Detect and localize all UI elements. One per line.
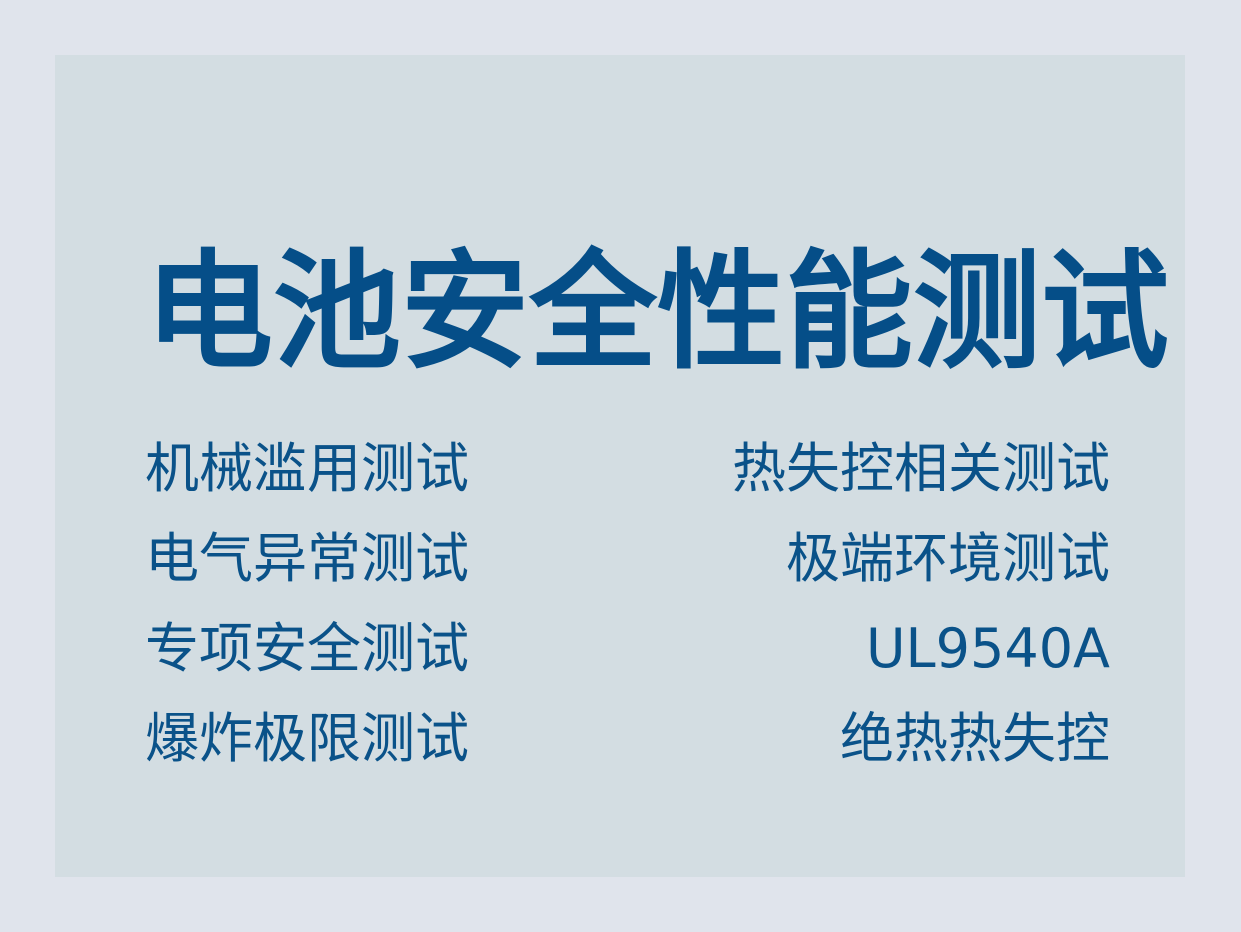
page-title: 电池安全性能测试 [145,238,1110,388]
category-item-thermal-runaway: 热失控相关测试 [732,424,1110,514]
test-category-list: 机械滥用测试 热失控相关测试 电气异常测试 极端环境测试 专项安全测试 UL95… [145,424,1110,774]
category-row: 机械滥用测试 热失控相关测试 [145,424,1110,514]
category-item-ul9540a: UL9540A [866,604,1110,694]
category-item-adiabatic-thermal-runaway: 绝热热失控 [840,694,1110,784]
category-item-mechanical-abuse: 机械滥用测试 [145,424,469,514]
slide-root: 电池安全性能测试 机械滥用测试 热失控相关测试 电气异常测试 极端环境测试 专项… [0,0,1241,932]
category-item-electrical-abnormal: 电气异常测试 [145,514,469,604]
category-item-extreme-environment: 极端环境测试 [786,514,1110,604]
category-row: 专项安全测试 UL9540A [145,604,1110,694]
category-item-special-safety: 专项安全测试 [145,604,469,694]
category-row: 电气异常测试 极端环境测试 [145,514,1110,604]
category-item-explosion-limit: 爆炸极限测试 [145,694,469,784]
category-row: 爆炸极限测试 绝热热失控 [145,694,1110,784]
